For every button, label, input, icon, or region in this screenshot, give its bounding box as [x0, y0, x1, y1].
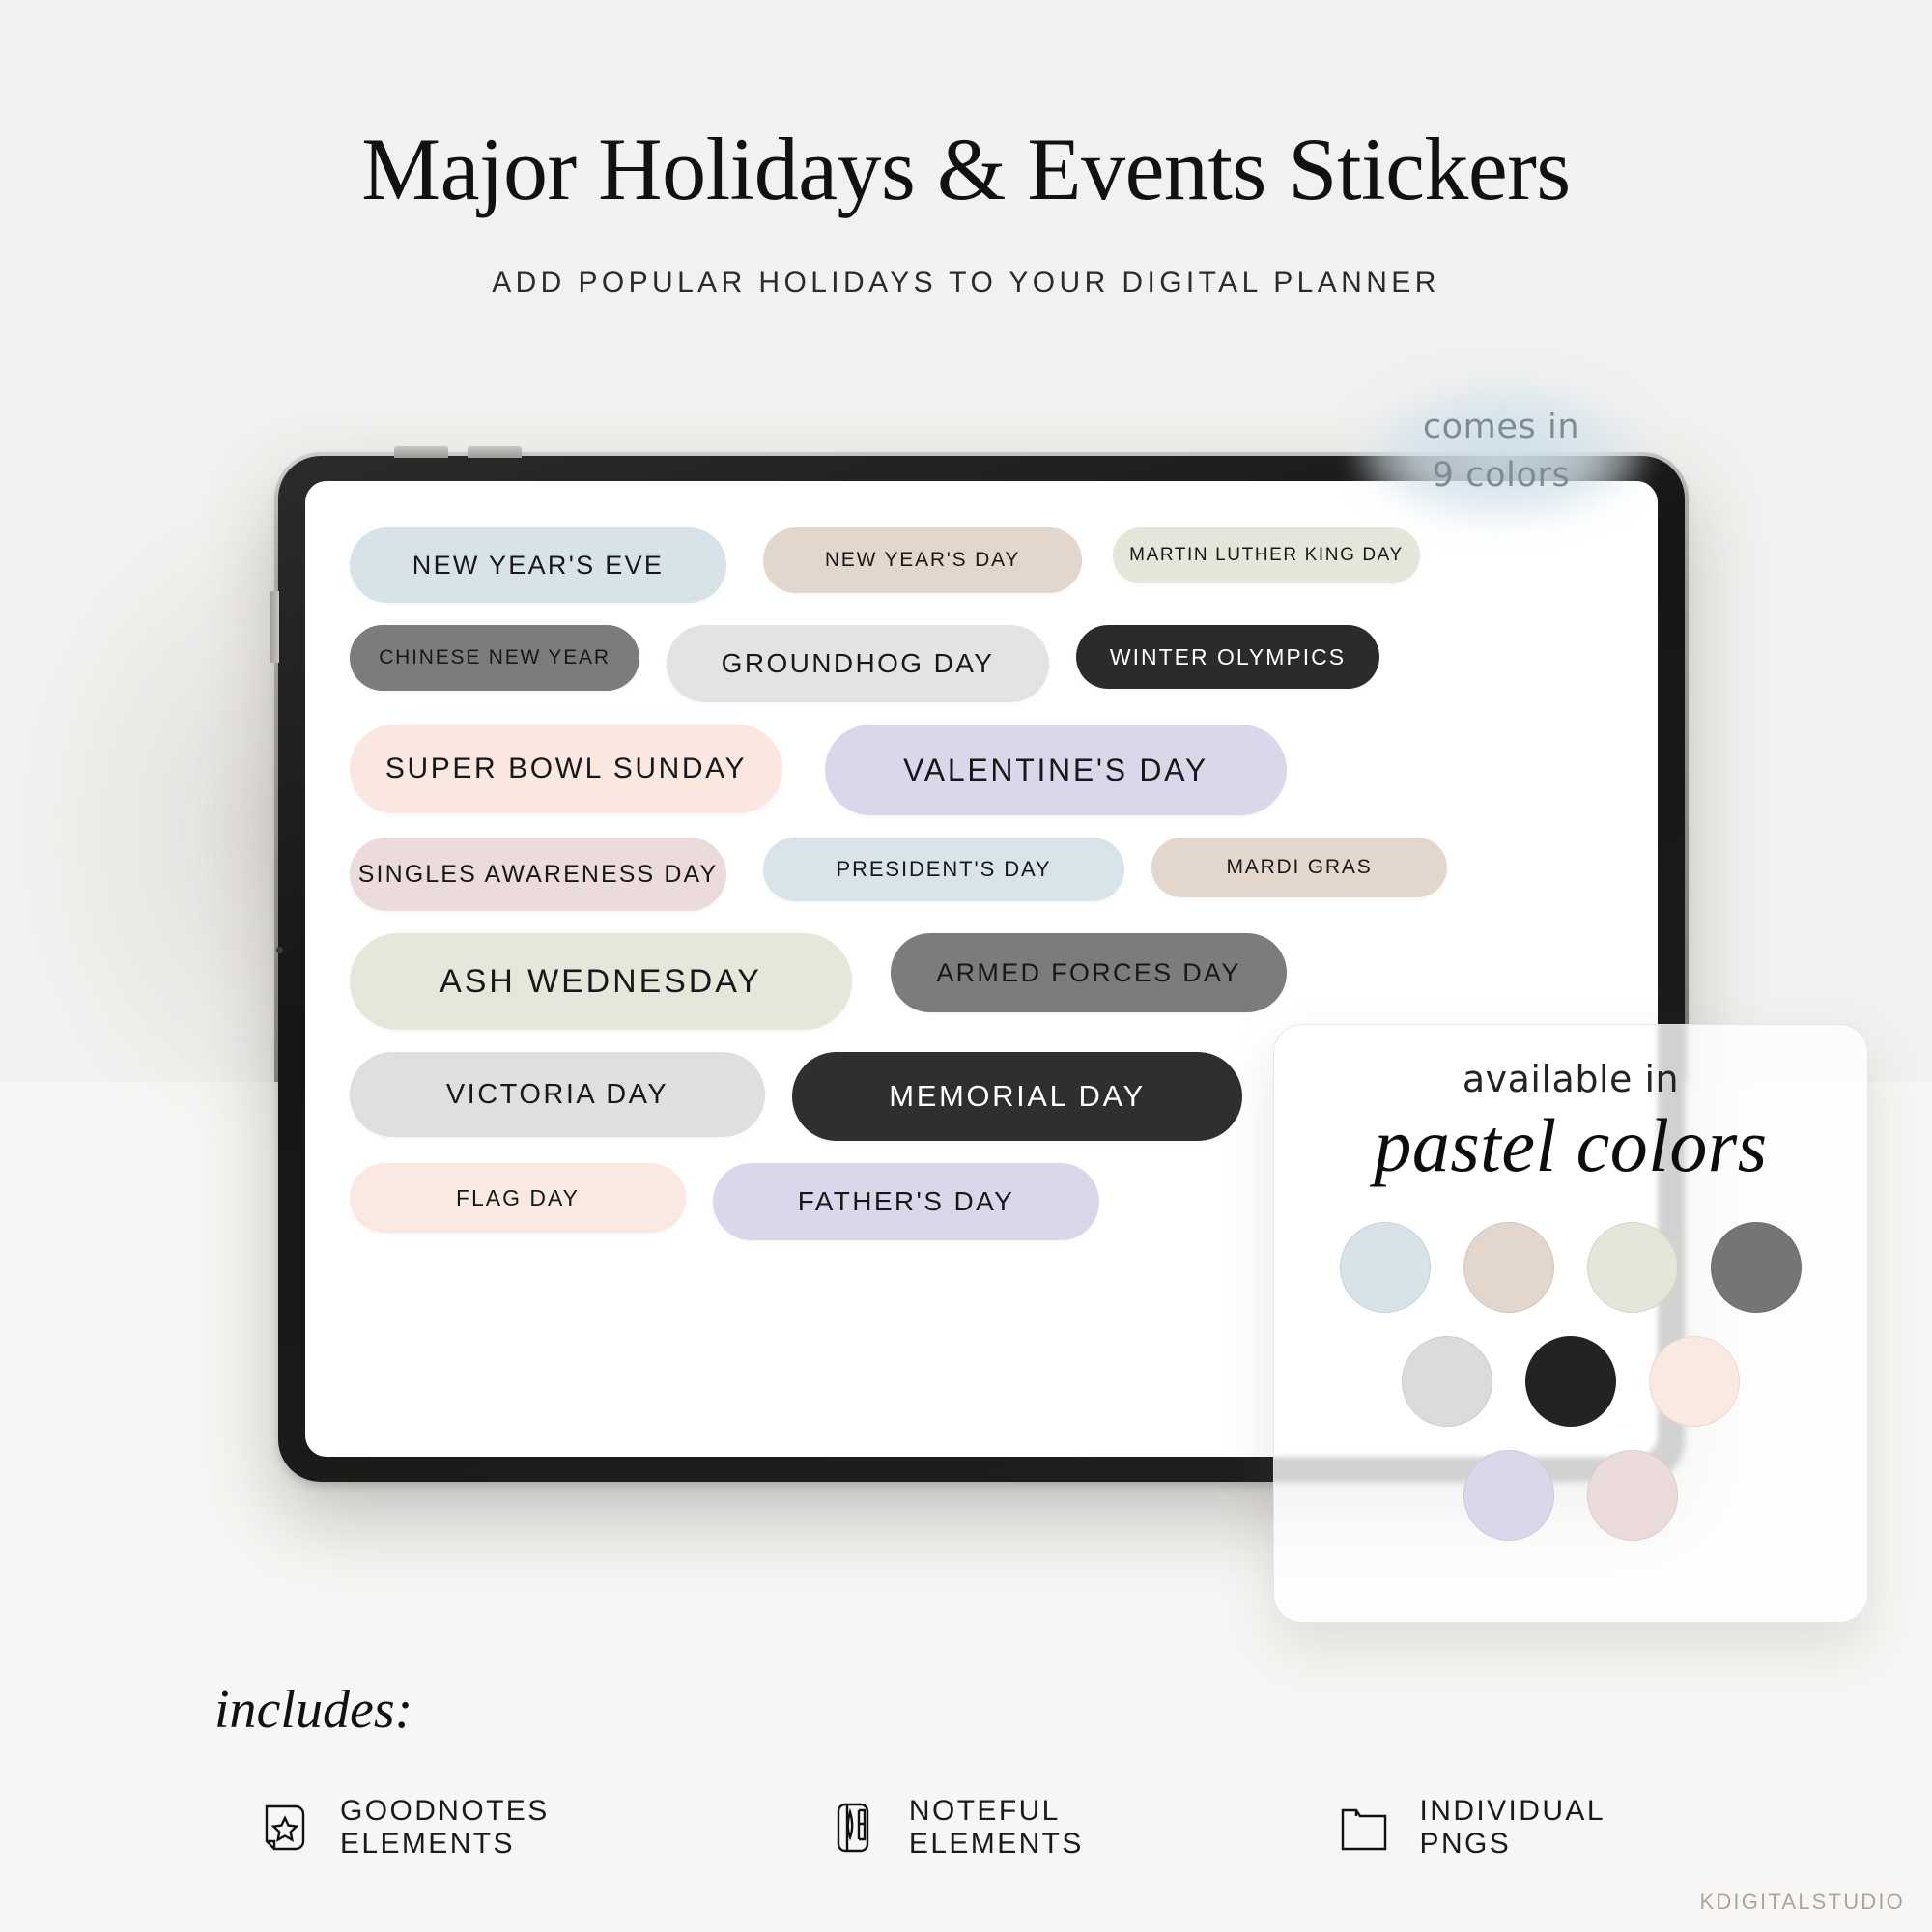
sticker-row: SINGLES AWARENESS DAYPRESIDENT'S DAYMARD… — [350, 838, 1613, 911]
color-swatch[interactable] — [1463, 1222, 1554, 1313]
color-swatch[interactable] — [1525, 1336, 1616, 1427]
color-swatch[interactable] — [1587, 1450, 1678, 1541]
color-swatch[interactable] — [1402, 1336, 1492, 1427]
color-swatch[interactable] — [1463, 1450, 1554, 1541]
sticker-pill[interactable]: NEW YEAR'S EVE — [350, 527, 726, 603]
color-swatch[interactable] — [1711, 1222, 1802, 1313]
volume-up-button[interactable] — [394, 446, 448, 458]
footer-label-goodnotes: GOODNOTES ELEMENTS — [340, 1795, 729, 1861]
header: Major Holidays & Events Stickers ADD POP… — [0, 124, 1932, 299]
color-swatch[interactable] — [1587, 1222, 1678, 1313]
goodnotes-star-icon — [253, 1797, 315, 1859]
footer-label-pngs: INDIVIDUAL PNGS — [1420, 1795, 1702, 1861]
swatch-line — [1313, 1222, 1829, 1313]
sticker-pill[interactable]: VICTORIA DAY — [350, 1052, 765, 1137]
sticker-pill[interactable]: SINGLES AWARENESS DAY — [350, 838, 726, 911]
color-swatch[interactable] — [1649, 1336, 1740, 1427]
camera-dot-icon — [276, 947, 283, 953]
badge-line-2: 9 colors — [1423, 452, 1579, 500]
color-swatch[interactable] — [1340, 1222, 1431, 1313]
sticker-row: ASH WEDNESDAYARMED FORCES DAY — [350, 933, 1613, 1030]
footer-item-goodnotes: GOODNOTES ELEMENTS — [253, 1795, 729, 1861]
pastel-colors-card: available in pastel colors — [1273, 1024, 1868, 1623]
watermark: KDIGITALSTUDIO — [1699, 1889, 1905, 1915]
sticker-pill[interactable]: VALENTINE'S DAY — [825, 724, 1287, 815]
pastel-colors-heading: pastel colors — [1313, 1102, 1829, 1189]
swatch-line — [1313, 1336, 1829, 1427]
comes-in-colors-badge: comes in 9 colors — [1350, 369, 1652, 535]
power-button[interactable] — [270, 591, 279, 663]
sticker-row: NEW YEAR'S EVENEW YEAR'S DAYMARTIN LUTHE… — [350, 527, 1613, 603]
sticker-row: SUPER BOWL SUNDAYVALENTINE'S DAY — [350, 724, 1613, 815]
sticker-pill[interactable]: MARDI GRAS — [1151, 838, 1447, 897]
sticker-pill[interactable]: FATHER'S DAY — [713, 1163, 1099, 1240]
swatch-line — [1313, 1450, 1829, 1541]
includes-label: includes: — [214, 1679, 412, 1741]
sticker-pill[interactable]: ASH WEDNESDAY — [350, 933, 852, 1030]
available-in-label: available in — [1313, 1058, 1829, 1100]
noteful-pen-icon — [822, 1797, 884, 1859]
footer-label-noteful: NOTEFUL ELEMENTS — [909, 1795, 1240, 1861]
sticker-pill[interactable]: GROUNDHOG DAY — [667, 625, 1049, 702]
sticker-row: CHINESE NEW YEARGROUNDHOG DAYWINTER OLYM… — [350, 625, 1613, 702]
sticker-pill[interactable]: ARMED FORCES DAY — [891, 933, 1287, 1012]
folder-icon — [1333, 1797, 1395, 1859]
color-swatch-grid — [1313, 1222, 1829, 1541]
page-subtitle: ADD POPULAR HOLIDAYS TO YOUR DIGITAL PLA… — [0, 267, 1932, 299]
page-title: Major Holidays & Events Stickers — [0, 124, 1932, 216]
badge-line-1: comes in — [1423, 404, 1579, 452]
sticker-pill[interactable]: SUPER BOWL SUNDAY — [350, 724, 782, 813]
volume-down-button[interactable] — [468, 446, 522, 458]
footer-items: GOODNOTES ELEMENTS NOTEFUL ELEMENTS INDI… — [253, 1795, 1702, 1861]
footer-item-pngs: INDIVIDUAL PNGS — [1333, 1795, 1702, 1861]
sticker-pill[interactable]: FLAG DAY — [350, 1163, 686, 1233]
sticker-pill[interactable]: WINTER OLYMPICS — [1076, 625, 1379, 689]
sticker-pill[interactable]: MARTIN LUTHER KING DAY — [1113, 527, 1420, 583]
sticker-pill[interactable]: NEW YEAR'S DAY — [763, 527, 1082, 593]
sticker-pill[interactable]: MEMORIAL DAY — [792, 1052, 1242, 1141]
sticker-pill[interactable]: PRESIDENT'S DAY — [763, 838, 1124, 901]
badge-text: comes in 9 colors — [1423, 404, 1579, 499]
sticker-pill[interactable]: CHINESE NEW YEAR — [350, 625, 639, 691]
footer-item-noteful: NOTEFUL ELEMENTS — [822, 1795, 1240, 1861]
